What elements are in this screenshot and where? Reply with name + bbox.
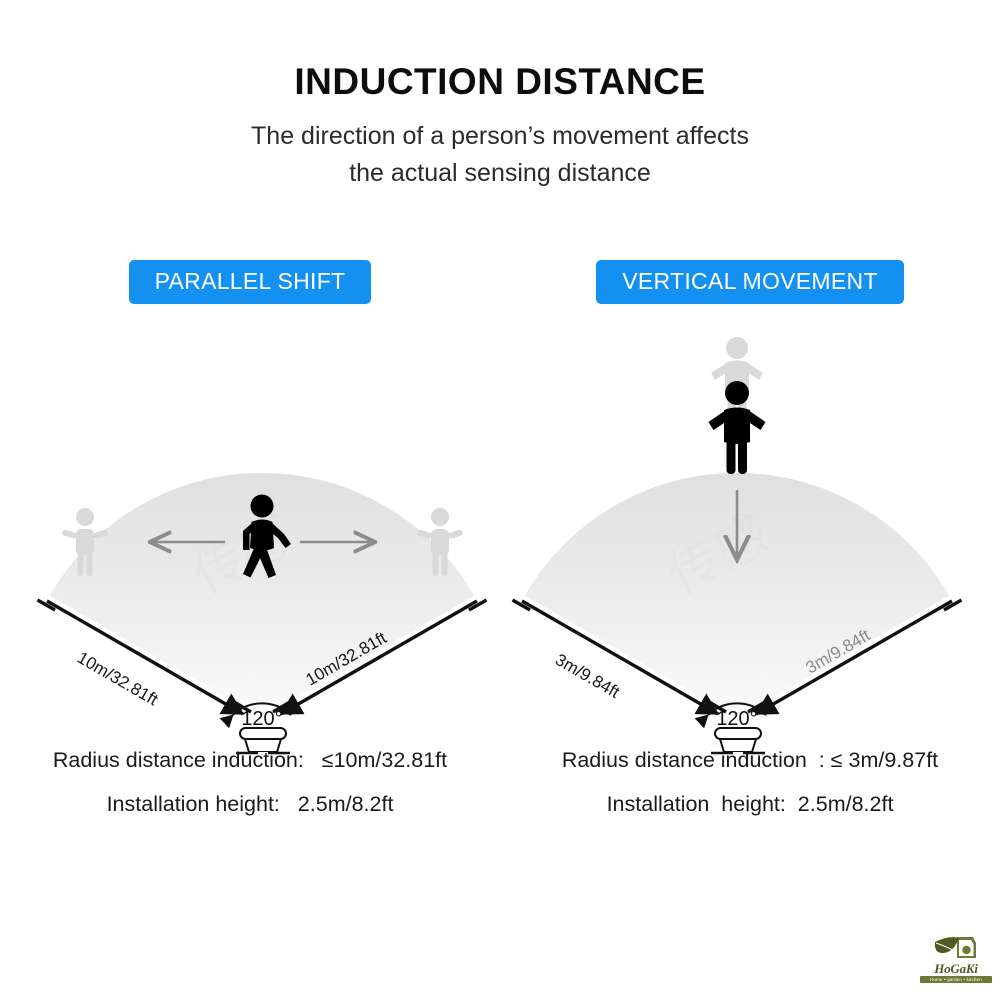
spec-height-right: Installation height: 2.5m/8.2ft [500,794,1000,816]
specs-vertical-movement: Radius distance induction : ≤ 3m/9.87ft … [500,750,1000,815]
badge-wrap-left: PARALLEL SHIFT [0,260,500,304]
badge-vertical-movement[interactable]: VERTICAL MOVEMENT [596,260,904,304]
badge-wrap-right: VERTICAL MOVEMENT [500,260,1000,304]
brand-logo: HoGaKi Home • garden • kitchen [920,934,992,994]
subtitle-line-1: The direction of a person’s movement aff… [0,118,1000,154]
spec-height-left: Installation height: 2.5m/8.2ft [0,794,500,816]
dimension-label-left: 3m/9.84ft [552,650,623,702]
panel-parallel-shift: PARALLEL SHIFT [0,260,500,880]
header: INDUCTION DISTANCE The direction of a pe… [0,60,1000,191]
badge-parallel-shift[interactable]: PARALLEL SHIFT [129,260,372,304]
subtitle-line-2: the actual sensing distance [0,155,1000,191]
diagram-parallel-shift: 传感 [0,330,500,730]
spec-radius-right: Radius distance induction : ≤ 3m/9.87ft [500,750,1000,772]
page-subtitle: The direction of a person’s movement aff… [0,118,1000,191]
specs-parallel-shift: Radius distance induction: ≤10m/32.81ft … [0,750,500,815]
standing-person-icon [709,381,766,474]
page-title: INDUCTION DISTANCE [0,60,1000,104]
infographic-page: INDUCTION DISTANCE The direction of a pe… [0,0,1000,1000]
diagram-vertical-movement: 传感 [500,330,1000,730]
spec-radius-left: Radius distance induction: ≤10m/32.81ft [0,750,500,772]
diagram-svg-right: 传感 [500,330,1000,730]
panel-vertical-movement: VERTICAL MOVEMENT [500,260,1000,880]
logo-name: HoGaKi [920,962,992,975]
dimension-label-left: 10m/32.81ft [74,648,161,709]
diagram-svg-left: 传感 [0,330,500,730]
logo-tagline: Home • garden • kitchen [920,976,992,983]
house-leaf-icon [933,934,979,962]
